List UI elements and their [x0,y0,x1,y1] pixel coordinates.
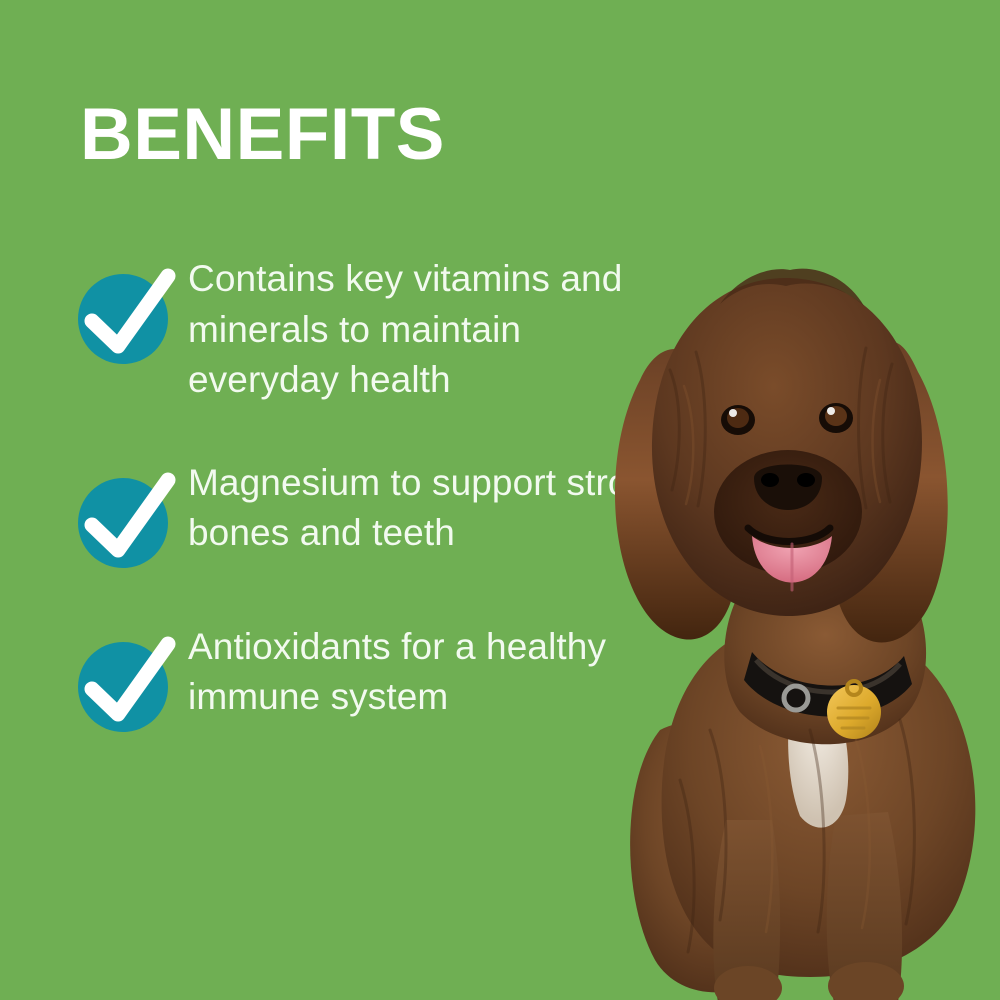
benefits-panel: BENEFITS Contains key vitamins and miner… [0,0,1000,1000]
list-item: Contains key vitamins and minerals to ma… [72,252,672,406]
check-circle-icon [72,470,188,570]
list-item-label: Contains key vitamins and minerals to ma… [188,252,672,406]
list-item: Magnesium to support strong bones and te… [72,456,672,570]
list-item-label: Magnesium to support strong bones and te… [188,456,672,559]
check-circle-icon [72,634,188,734]
page-title: BENEFITS [80,96,445,174]
list-item: Antioxidants for a healthy immune system [72,620,672,734]
list-item-label: Antioxidants for a healthy immune system [188,620,672,723]
benefits-list: Contains key vitamins and minerals to ma… [72,252,672,734]
check-circle-icon [72,266,188,366]
